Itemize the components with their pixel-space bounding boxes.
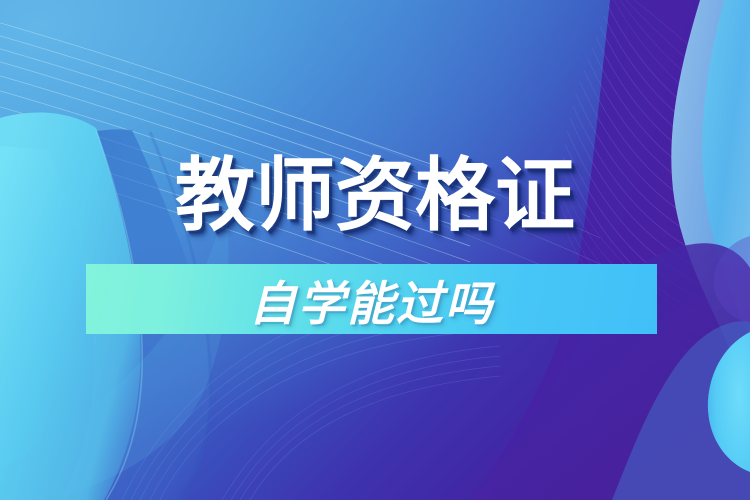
page-title: 教师资格证 — [0, 150, 750, 242]
subtitle: 自学能过吗 — [86, 264, 657, 334]
promotional-banner: 教师资格证 自学能过吗 — [0, 0, 750, 500]
text-layer: 教师资格证 自学能过吗 — [0, 0, 750, 500]
